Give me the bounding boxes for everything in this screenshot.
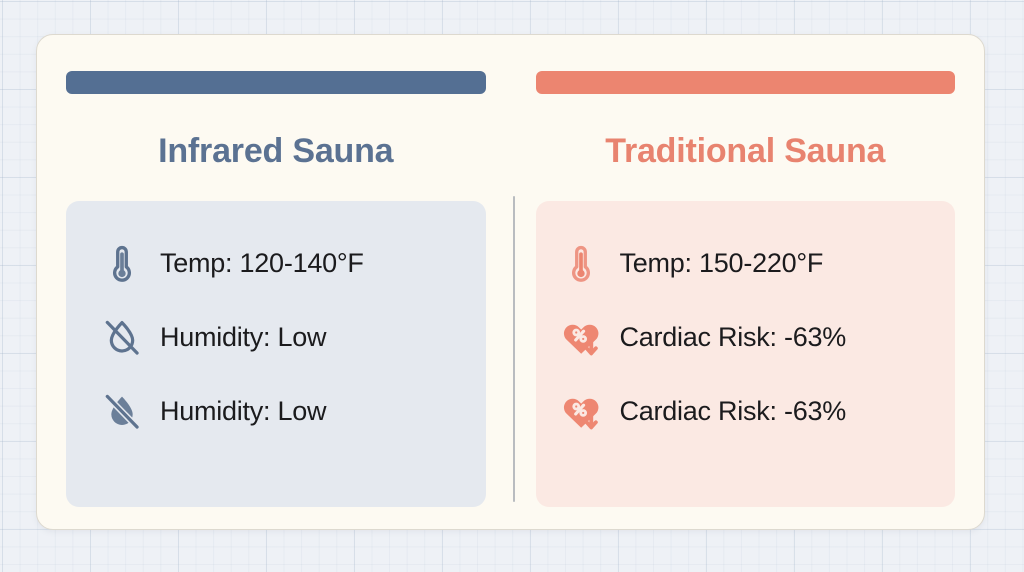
accent-bar-traditional bbox=[536, 71, 956, 94]
accent-bar-infrared bbox=[66, 71, 486, 94]
droplet-off-outline-icon bbox=[99, 315, 145, 361]
droplet-off-filled-icon bbox=[99, 389, 145, 435]
feature-label: Humidity: Low bbox=[160, 396, 326, 427]
thermometer-icon bbox=[99, 241, 145, 287]
heart-percent-down-icon bbox=[558, 315, 604, 361]
panel-body-traditional: Temp: 150-220°F Cardia bbox=[536, 201, 956, 507]
panel-title-traditional: Traditional Sauna bbox=[536, 94, 956, 201]
feature-row: Humidity: Low bbox=[66, 375, 486, 449]
thermometer-icon bbox=[558, 241, 604, 287]
feature-row: Cardiac Risk: -63% bbox=[536, 301, 956, 375]
column-infrared: Infrared Sauna Temp: 120-140°F bbox=[37, 35, 511, 529]
panel-title-infrared: Infrared Sauna bbox=[66, 94, 486, 201]
feature-label: Cardiac Risk: -63% bbox=[620, 396, 847, 427]
feature-label: Humidity: Low bbox=[160, 322, 326, 353]
feature-row: Temp: 150-220°F bbox=[536, 227, 956, 301]
comparison-card: Infrared Sauna Temp: 120-140°F bbox=[36, 34, 985, 530]
panel-body-infrared: Temp: 120-140°F Humidity: Low bbox=[66, 201, 486, 507]
feature-label: Temp: 120-140°F bbox=[160, 248, 364, 279]
feature-label: Cardiac Risk: -63% bbox=[620, 322, 847, 353]
column-traditional: Traditional Sauna Temp: 150-220°F bbox=[511, 35, 985, 529]
heart-percent-down-icon bbox=[558, 389, 604, 435]
feature-row: Humidity: Low bbox=[66, 301, 486, 375]
feature-label: Temp: 150-220°F bbox=[620, 248, 824, 279]
feature-row: Cardiac Risk: -63% bbox=[536, 375, 956, 449]
feature-row: Temp: 120-140°F bbox=[66, 227, 486, 301]
